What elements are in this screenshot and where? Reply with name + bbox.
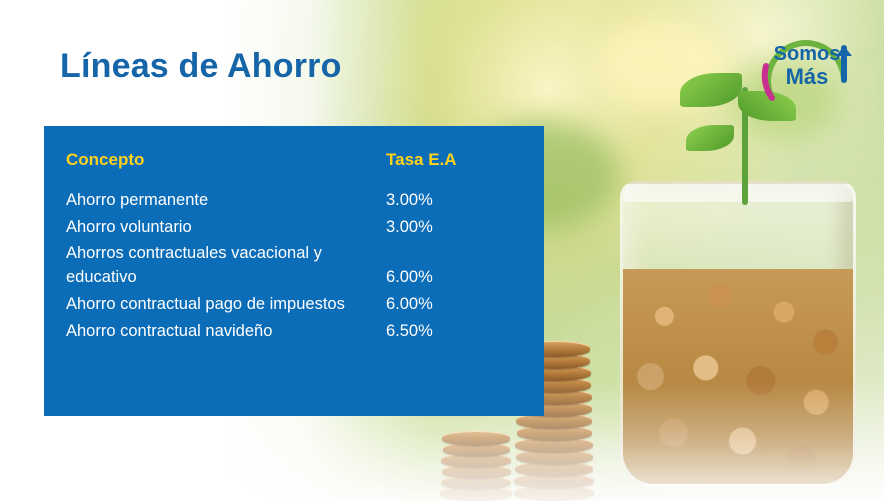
table-row: Ahorro permanente 3.00% (66, 189, 528, 213)
table-row: Ahorro voluntario 3.00% (66, 216, 528, 240)
header-concept: Concepto (66, 148, 386, 173)
cell-rate: 3.00% (386, 216, 506, 240)
cell-concept: Ahorro contractual navideño (66, 320, 386, 344)
logo-line-2: Más (748, 65, 866, 88)
cell-concept: Ahorros contractuales vacacional y educa… (66, 242, 386, 290)
rates-table: Concepto Tasa E.A Ahorro permanente 3.00… (66, 148, 528, 347)
slide: Líneas de Ahorro Somos Más Concepto Tasa… (0, 0, 884, 501)
logo: Somos Más (748, 22, 866, 118)
cell-rate: 6.50% (386, 320, 506, 344)
cell-concept: Ahorro voluntario (66, 216, 386, 240)
header-rate: Tasa E.A (386, 148, 506, 173)
cell-concept: Ahorro contractual pago de impuestos (66, 293, 386, 317)
table-row: Ahorro contractual pago de impuestos 6.0… (66, 293, 528, 317)
table-row: Ahorro contractual navideño 6.50% (66, 320, 528, 344)
logo-line-1: Somos (748, 44, 866, 65)
cell-concept: Ahorro permanente (66, 189, 386, 213)
page-title: Líneas de Ahorro (60, 47, 342, 86)
table-header-row: Concepto Tasa E.A (66, 148, 528, 173)
table-row: Ahorros contractuales vacacional y educa… (66, 242, 528, 290)
cell-rate: 6.00% (386, 266, 506, 290)
rates-table-panel: Concepto Tasa E.A Ahorro permanente 3.00… (44, 126, 544, 416)
jar-lip (620, 184, 856, 202)
logo-text: Somos Más (748, 44, 866, 88)
cell-rate: 3.00% (386, 189, 506, 213)
cell-rate: 6.00% (386, 293, 506, 317)
